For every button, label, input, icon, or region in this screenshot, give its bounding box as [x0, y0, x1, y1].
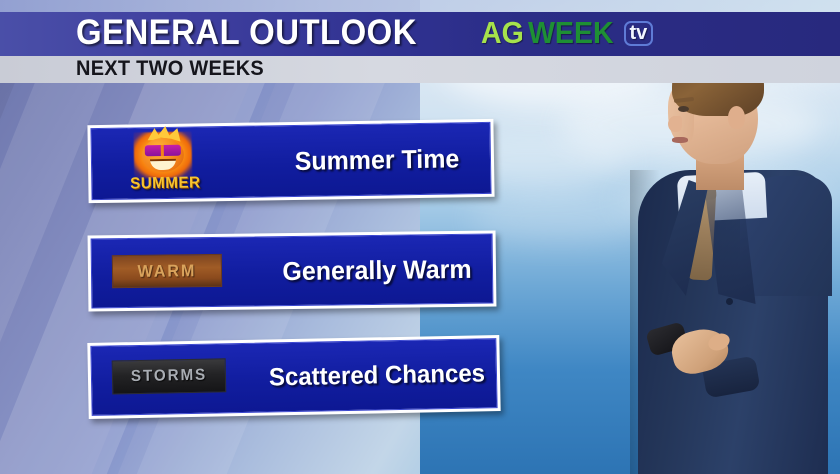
- presenter-figure: [600, 30, 840, 474]
- suit-button: [726, 298, 733, 305]
- outlook-row-body: STORMS Scattered Chances: [90, 338, 497, 416]
- storms-badge-text: STORMS: [131, 367, 207, 386]
- summer-badge-text: SUMMER: [115, 174, 216, 194]
- storms-badge-icon: STORMS: [112, 358, 227, 394]
- warm-badge-text: WARM: [137, 261, 196, 282]
- warm-badge-icon: WARM: [112, 254, 222, 288]
- titlebar-top-accent: [0, 0, 840, 12]
- sunglasses-icon: [145, 145, 181, 157]
- presenter-mouth: [672, 137, 688, 143]
- presenter-eye: [678, 106, 689, 112]
- page-subtitle: NEXT TWO WEEKS: [76, 57, 264, 81]
- presenter-ear: [728, 106, 745, 129]
- summer-sun-icon: SUMMER: [112, 130, 219, 198]
- logo-text-week: WEEK: [528, 15, 614, 51]
- outlook-row-body: SUMMER Summer Time: [90, 122, 491, 200]
- logo-text-tv: tv: [624, 21, 654, 46]
- agweek-tv-logo: AG WEEK tv: [481, 12, 653, 54]
- outlook-row[interactable]: STORMS Scattered Chances: [87, 335, 500, 419]
- outlook-label: Scattered Chances: [238, 358, 517, 392]
- outlook-row[interactable]: SUMMER Summer Time: [87, 119, 494, 203]
- outlook-label: Generally Warm: [247, 253, 507, 287]
- outlook-row-body: WARM Generally Warm: [91, 234, 494, 309]
- presenter-nose: [668, 116, 682, 132]
- page-title: GENERAL OUTLOOK: [76, 13, 417, 53]
- outlook-row[interactable]: WARM Generally Warm: [88, 231, 497, 312]
- outlook-label: Summer Time: [247, 142, 507, 177]
- broadcast-weather-graphic: GENERAL OUTLOOK NEXT TWO WEEKS AG WEEK t…: [0, 0, 840, 474]
- logo-text-ag: AG: [481, 15, 524, 51]
